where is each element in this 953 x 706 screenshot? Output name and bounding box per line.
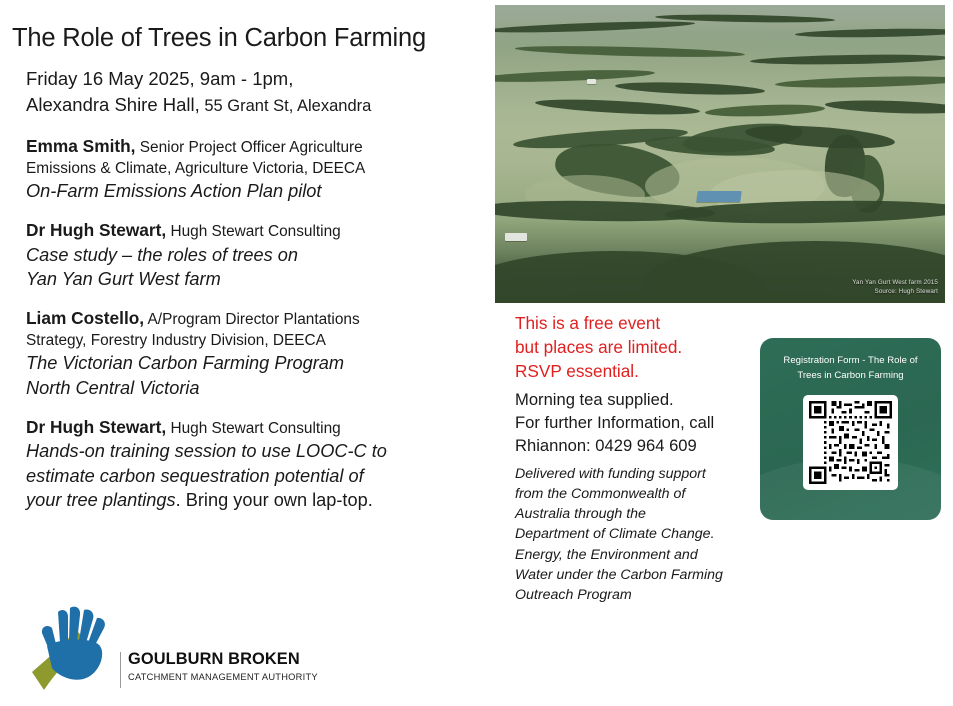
funding-line-6: Water under the Carbon Farming: [515, 565, 750, 585]
speaker-name: Liam Costello,: [26, 308, 144, 328]
speaker-role-cont: Emissions & Climate, Agriculture Victori…: [26, 159, 490, 179]
photo-caption-line2: Source: Hugh Stewart: [852, 287, 938, 297]
funding-line-5: Energy, the Environment and: [515, 545, 750, 565]
left-content-column: The Role of Trees in Carbon Farming Frid…: [12, 24, 490, 528]
flyer-page: The Role of Trees in Carbon Farming Frid…: [0, 0, 953, 706]
white-farm-building: [505, 233, 527, 241]
rsvp-line-3: RSVP essential.: [515, 359, 750, 383]
speaker-name: Dr Hugh Stewart,: [26, 220, 166, 240]
partner-logo-bar: GOULBURN BROKEN CATCHMENT MANAGEMENT AUT…: [0, 600, 953, 706]
speaker-item: Liam Costello, A/Program Director Planta…: [26, 307, 490, 400]
gb-logo-name: GOULBURN BROKEN: [128, 650, 276, 669]
speaker-role: Hugh Stewart Consulting: [166, 420, 341, 437]
speaker-topic: On-Farm Emissions Action Plan pilot: [26, 180, 490, 204]
rsvp-line-2: but places are limited.: [515, 335, 750, 359]
registration-qr-card[interactable]: Registration Form - The Role of Trees in…: [760, 338, 941, 520]
speaker-topic-plain-part: . Bring your own lap-top.: [176, 490, 373, 510]
qr-card-title: Registration Form - The Role of Trees in…: [774, 354, 927, 384]
speaker-item: Emma Smith, Senior Project Officer Agric…: [26, 135, 490, 204]
speaker-topic: The Victorian Carbon Farming Program: [26, 352, 490, 376]
qr-code-icon: [809, 401, 892, 484]
funding-disclaimer: Delivered with funding support from the …: [515, 464, 750, 605]
funding-line-4: Department of Climate Change.: [515, 524, 750, 544]
speaker-topic: Case study – the roles of trees on: [26, 244, 490, 268]
logo-divider: [120, 652, 121, 688]
speaker-role: Hugh Stewart Consulting: [166, 223, 341, 240]
event-date-line: Friday 16 May 2025, 9am - 1pm,: [26, 66, 490, 92]
venue-address: 55 Grant St, Alexandra: [200, 97, 372, 115]
speaker-name: Emma Smith,: [26, 136, 135, 156]
gb-logo-subtitle: CATCHMENT MANAGEMENT AUTHORITY: [128, 672, 276, 682]
speaker-role-cont: Strategy, Forestry Industry Division, DE…: [26, 331, 490, 351]
funding-line-1: Delivered with funding support: [515, 464, 750, 484]
farm-aerial-photo: Yan Yan Gurt West farm 2015 Source: Hugh…: [495, 5, 945, 303]
logo-goulburn-broken-cma: GOULBURN BROKEN CATCHMENT MANAGEMENT AUT…: [24, 606, 276, 700]
speaker-topic: Hands-on training session to use LOOC-C …: [26, 440, 490, 464]
morning-tea-line: Morning tea supplied.: [515, 389, 750, 412]
blue-roof-shed: [696, 191, 742, 202]
speaker-item: Dr Hugh Stewart, Hugh Stewart Consulting…: [26, 219, 490, 292]
right-content-column: This is a free event but places are limi…: [515, 311, 750, 605]
speaker-topic-cont: North Central Victoria: [26, 377, 490, 401]
funding-line-3: Australia through the: [515, 504, 750, 524]
speaker-item: Dr Hugh Stewart, Hugh Stewart Consulting…: [26, 416, 490, 514]
further-info-line: For further Information, call: [515, 412, 750, 435]
photo-caption-line1: Yan Yan Gurt West farm 2015: [852, 278, 938, 288]
contact-info: Morning tea supplied. For further Inform…: [515, 389, 750, 458]
speaker-topic-cont: Yan Yan Gurt West farm: [26, 268, 490, 292]
page-title: The Role of Trees in Carbon Farming: [12, 24, 490, 53]
speaker-topic-italic-part: your tree plantings: [26, 490, 176, 510]
speaker-topic-cont: estimate carbon sequestration potential …: [26, 465, 490, 489]
speaker-name: Dr Hugh Stewart,: [26, 417, 166, 437]
speaker-topic-cont2: your tree plantings. Bring your own lap-…: [26, 489, 490, 513]
event-date-venue: Friday 16 May 2025, 9am - 1pm, Alexandra…: [26, 66, 490, 119]
white-farm-building: [587, 79, 596, 84]
photo-caption: Yan Yan Gurt West farm 2015 Source: Hugh…: [852, 278, 938, 297]
speaker-role: Senior Project Officer Agriculture: [135, 139, 362, 156]
contact-phone-line: Rhiannon: 0429 964 609: [515, 435, 750, 458]
qr-code[interactable]: [803, 395, 898, 490]
funding-line-2: from the Commonwealth of: [515, 484, 750, 504]
event-venue-line: Alexandra Shire Hall, 55 Grant St, Alexa…: [26, 92, 490, 118]
goulburn-broken-hand-icon: [24, 606, 124, 700]
speaker-list: Emma Smith, Senior Project Officer Agric…: [26, 135, 490, 513]
speaker-role: A/Program Director Plantations: [144, 311, 360, 328]
rsvp-line-1: This is a free event: [515, 311, 750, 335]
venue-name: Alexandra Shire Hall,: [26, 94, 200, 115]
rsvp-notice: This is a free event but places are limi…: [515, 311, 750, 383]
